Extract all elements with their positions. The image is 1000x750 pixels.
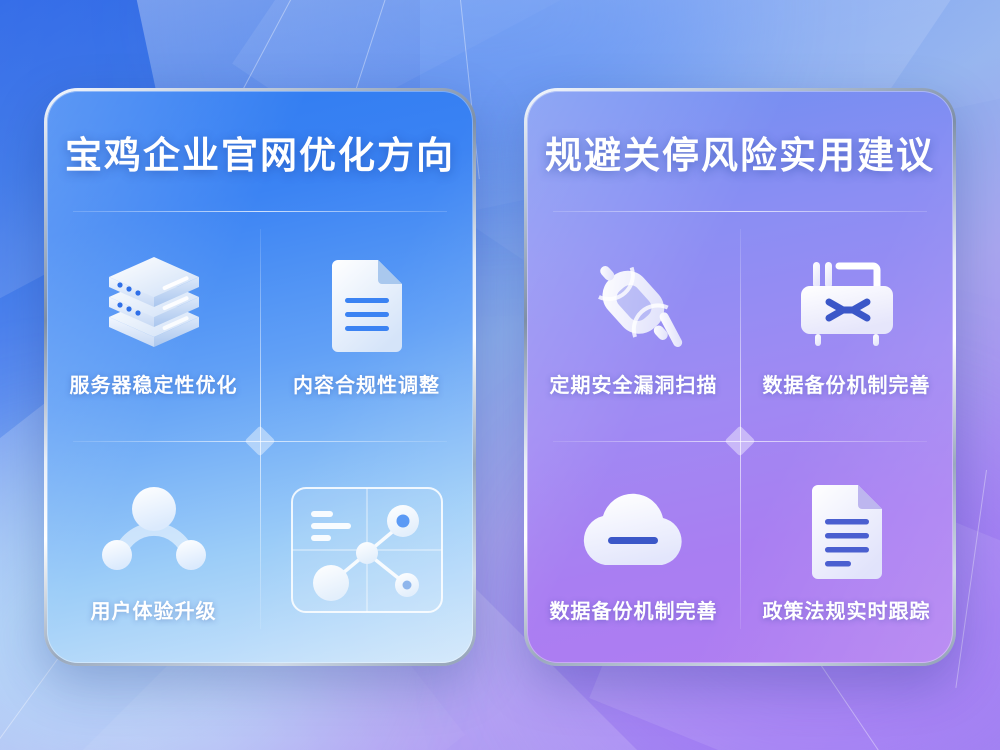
feature-cell-policy-tracking[interactable]: 政策法规实时跟踪 (740, 438, 953, 664)
feature-label: 用户体验升级 (91, 595, 217, 624)
feature-cell-vulnerability-scan[interactable]: 定期安全漏洞扫描 (527, 212, 740, 438)
card-risk-avoidance-advice: 规避关停风险实用建议 (524, 88, 956, 666)
card-optimization-directions: 宝鸡企业官网优化方向 (44, 88, 476, 666)
page-title-left: 宝鸡企业官网优化方向 (47, 125, 473, 179)
feature-label: 定期安全漏洞扫描 (550, 369, 718, 398)
feature-grid-left: 服务器稳定性优化 (47, 212, 473, 663)
feature-label: 服务器稳定性优化 (70, 369, 238, 398)
feature-grid-right: 定期安全漏洞扫描 (527, 212, 953, 663)
feature-cell-cloud-backup[interactable]: 数据备份机制完善 (527, 438, 740, 664)
feature-cell-data-chart[interactable] (260, 438, 473, 664)
feature-cell-data-backup-terminal[interactable]: 数据备份机制完善 (740, 212, 953, 438)
feature-cell-user-experience[interactable]: 用户体验升级 (47, 438, 260, 664)
page-title-right: 规避关停风险实用建议 (527, 125, 953, 179)
feature-label: 政策法规实时跟踪 (763, 595, 931, 624)
feature-cell-server-stability[interactable]: 服务器稳定性优化 (47, 212, 260, 438)
network-share-icon (94, 477, 214, 581)
server-stack-icon (94, 251, 214, 355)
feature-label: 内容合规性调整 (293, 369, 440, 398)
document-lines-icon (307, 251, 427, 355)
scanner-probe-icon (574, 251, 694, 355)
feature-label: 数据备份机制完善 (763, 369, 931, 398)
data-node-chart-icon (289, 485, 445, 615)
cloud-icon (574, 477, 694, 581)
infographic-canvas: 宝鸡企业官网优化方向 (0, 0, 1000, 750)
document-policy-icon (787, 477, 907, 581)
terminal-console-icon (787, 251, 907, 355)
feature-cell-content-compliance[interactable]: 内容合规性调整 (260, 212, 473, 438)
feature-label: 数据备份机制完善 (550, 595, 718, 624)
